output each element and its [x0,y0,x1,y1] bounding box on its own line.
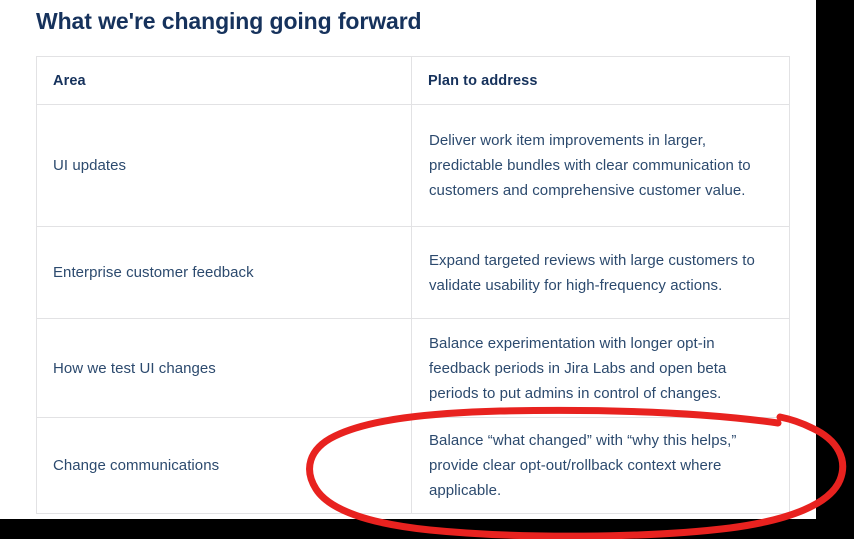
cell-area: How we test UI changes [37,319,412,418]
cell-plan: Deliver work item improvements in larger… [412,105,790,227]
cell-area: Change communications [37,418,412,514]
table-header: Area Plan to address [37,57,790,105]
cell-plan: Balance experimentation with longer opt-… [412,319,790,418]
changes-table: Area Plan to address UI updates Deliver … [36,56,790,514]
cell-plan: Balance “what changed” with “why this he… [412,418,790,514]
letterbox-band-right [816,0,854,539]
table-header-row: Area Plan to address [37,57,790,105]
table-row: Change communications Balance “what chan… [37,418,790,514]
column-header-area: Area [37,57,412,105]
page-title: What we're changing going forward [36,8,422,35]
cell-area: Enterprise customer feedback [37,227,412,319]
table-row: Enterprise customer feedback Expand targ… [37,227,790,319]
document-page: What we're changing going forward Area P… [0,0,816,519]
cell-area: UI updates [37,105,412,227]
table-row: How we test UI changes Balance experimen… [37,319,790,418]
table-row: UI updates Deliver work item improvement… [37,105,790,227]
table-body: UI updates Deliver work item improvement… [37,105,790,514]
cell-plan: Expand targeted reviews with large custo… [412,227,790,319]
letterbox-band-bottom [0,519,854,539]
column-header-plan: Plan to address [412,57,790,105]
